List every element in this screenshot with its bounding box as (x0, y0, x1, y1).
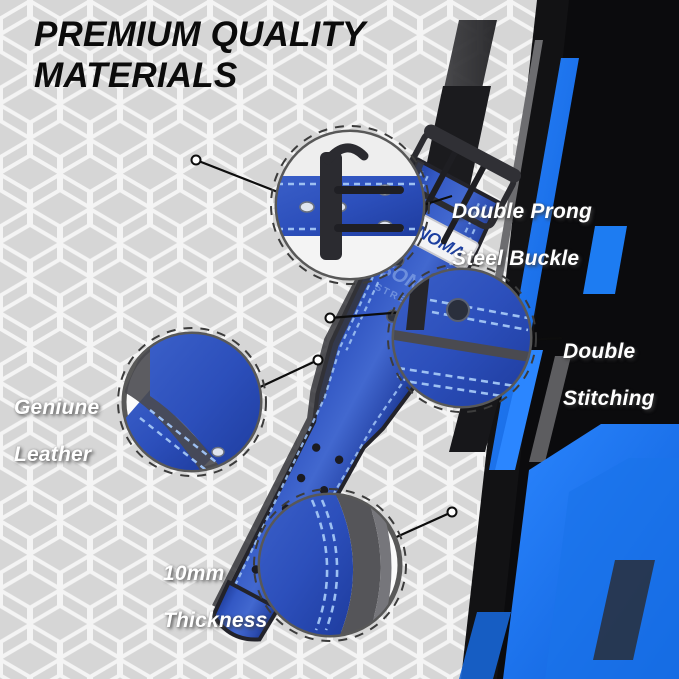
feature-label-stitching: Double Stitching (563, 316, 655, 410)
detail-circle-stitching (388, 264, 536, 412)
title-line-1: PREMIUM QUALITY (34, 14, 464, 55)
feature-label-thickness-line1: 10mm (163, 562, 225, 585)
feature-label-thickness-line2: Thickness (163, 609, 268, 632)
infographic-canvas: SONOMA STRENGTH SONOMA (0, 0, 679, 679)
feature-label-buckle-line2: Steel Buckle (452, 247, 579, 270)
feature-label-stitching-line2: Stitching (563, 387, 655, 410)
feature-label-thickness: 10mm Thickness (163, 538, 268, 632)
feature-label-buckle: Double Prong Steel Buckle (452, 176, 592, 270)
title-line-2: MATERIALS (34, 55, 464, 96)
detail-circle-leather (118, 328, 266, 476)
feature-label-leather-line2: Leather (14, 443, 91, 466)
feature-label-leather: Geniune Leather (14, 372, 99, 466)
detail-circle-buckle (271, 126, 429, 286)
detail-circle-thickness (254, 489, 406, 641)
feature-label-leather-line1: Geniune (14, 396, 99, 419)
page-title: PREMIUM QUALITY MATERIALS (34, 14, 464, 97)
feature-label-buckle-line1: Double Prong (452, 200, 592, 223)
feature-label-stitching-line1: Double (563, 340, 635, 363)
